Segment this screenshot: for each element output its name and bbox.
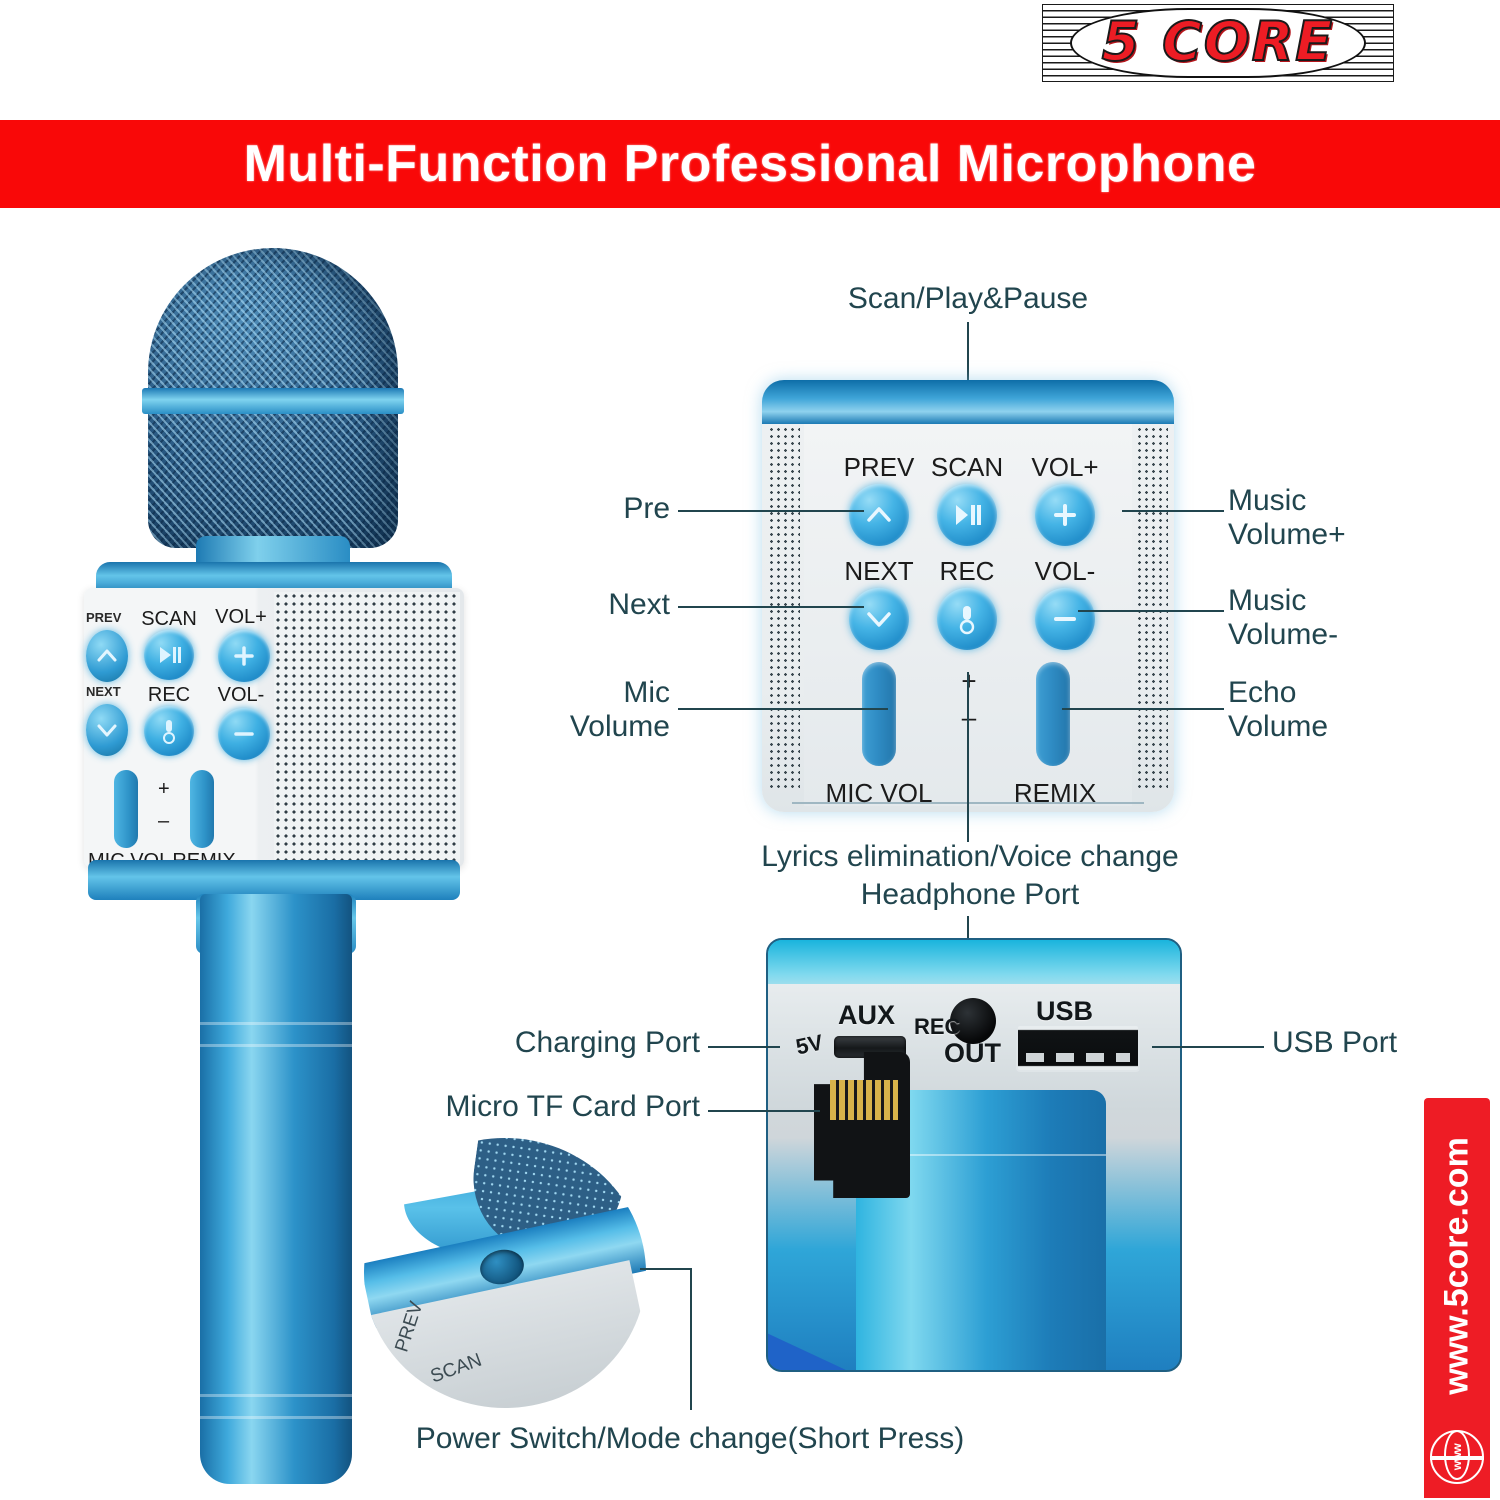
panel-next-button[interactable] — [849, 588, 909, 650]
panel-mic-vol-label: MIC VOL — [818, 778, 940, 809]
callout-music-volume-down: Music Volume- — [1228, 584, 1428, 651]
panel-vol-down-button[interactable] — [1035, 588, 1095, 650]
ports-corner-accent — [768, 1318, 846, 1370]
callout-micro-tf-card-port: Micro TF Card Port — [440, 1090, 700, 1124]
photo-prev-label: PREV — [86, 610, 121, 625]
panel-top-bezel — [762, 380, 1174, 424]
panel-vol-down-label: VOL- — [1010, 556, 1120, 587]
callout-scan-play-pause: Scan/Play&Pause — [808, 282, 1128, 316]
ports-panel-photo: 5V AUX REC OUT USB — [766, 938, 1182, 1372]
panel-mic-vol-slider[interactable] — [862, 662, 896, 766]
power-switch-inset: PREV SCAN — [364, 1138, 646, 1408]
photo-next-label: NEXT — [86, 684, 121, 699]
callout-line-mic-volume — [678, 708, 888, 710]
callout-echo-volume: Echo Volume — [1228, 676, 1428, 743]
callout-line-charging-port — [708, 1046, 780, 1048]
usb-port — [1016, 1024, 1140, 1072]
panel-vol-up-label: VOL+ — [1010, 452, 1120, 483]
brand-logo: 5 CORE — [1042, 4, 1394, 82]
callout-lyrics-elimination: Lyrics elimination/Voice change — [760, 840, 1180, 874]
callout-charging-port: Charging Port — [500, 1026, 700, 1060]
callout-line-next — [678, 606, 864, 608]
photo-mic-vol-slider — [114, 770, 138, 848]
port-label-aux: AUX — [838, 1000, 895, 1031]
panel-vol-up-button[interactable] — [1035, 484, 1095, 546]
photo-vol-up-label: VOL+ — [196, 606, 286, 629]
website-side-tab: www.5core.com www — [1424, 1098, 1490, 1498]
header-banner: Multi-Function Professional Microphone — [0, 120, 1500, 208]
callout-line-usb-port — [1152, 1046, 1264, 1048]
callout-line-power-switch-h — [640, 1268, 692, 1270]
globe-www-label: www — [1450, 1444, 1464, 1471]
panel-scan-label: SCAN — [912, 452, 1022, 483]
handle-ring — [200, 1044, 352, 1047]
panel-rec-button[interactable] — [937, 588, 997, 650]
callout-line-music-volume-down — [1078, 610, 1224, 612]
photo-vol-down-label: VOL- — [196, 684, 286, 707]
callout-line-lyrics — [967, 672, 969, 842]
callout-music-volume-up: Music Volume+ — [1228, 484, 1428, 551]
logo-text: 5 CORE — [1102, 10, 1334, 73]
photo-remix-slider — [190, 770, 214, 848]
callout-headphone-port: Headphone Port — [760, 878, 1180, 912]
panel-prev-button[interactable] — [849, 484, 909, 546]
website-url: www.5core.com — [1438, 1137, 1477, 1395]
handle-ring — [200, 1416, 352, 1419]
photo-scan-button — [144, 630, 194, 680]
photo-slider-minus: – — [158, 810, 169, 833]
callout-line-tf-card-port — [708, 1110, 820, 1112]
banner-title: Multi-Function Professional Microphone — [0, 120, 1500, 208]
callout-mic-volume: Mic Volume — [530, 676, 670, 743]
callout-next: Next — [540, 588, 670, 622]
photo-rec-button — [144, 706, 194, 756]
microphone-handle — [200, 894, 352, 1484]
speaker-body: PREV NEXT SCAN REC VOL+ VOL- + — [84, 588, 464, 868]
panel-grille-right — [1136, 426, 1168, 790]
port-label-rec: REC — [914, 1014, 960, 1040]
panel-rec-label: REC — [912, 556, 1022, 587]
port-label-out: OUT — [944, 1038, 1001, 1069]
port-label-usb: USB — [1036, 996, 1093, 1027]
callout-usb-port: USB Port — [1272, 1026, 1472, 1060]
speaker-grille — [274, 592, 460, 864]
handle-ring — [200, 1394, 352, 1397]
handle-ring — [200, 1022, 352, 1025]
callout-line-power-switch-v — [690, 1268, 692, 1410]
callout-pre: Pre — [560, 492, 670, 526]
tf-card-pins — [830, 1080, 898, 1120]
infographic-canvas: 5 CORE Multi-Function Professional Micro… — [0, 0, 1500, 1500]
panel-scan-button[interactable] — [937, 484, 997, 546]
panel-slider-plus: + — [954, 666, 984, 697]
callout-power-switch: Power Switch/Mode change(Short Press) — [392, 1422, 988, 1456]
photo-vol-down-button — [218, 708, 270, 760]
photo-next-button — [86, 704, 128, 756]
port-label-5v: 5V — [794, 1029, 826, 1060]
panel-grille-left — [768, 426, 800, 790]
mesh-head-band — [142, 388, 404, 414]
photo-prev-button — [86, 630, 128, 682]
globe-icon: www — [1430, 1430, 1484, 1484]
callout-line-pre — [678, 510, 864, 512]
panel-remix-label: REMIX — [994, 778, 1116, 809]
panel-remix-slider[interactable] — [1036, 662, 1070, 766]
callout-line-music-volume-up — [1122, 510, 1224, 512]
callout-line-echo-volume — [1062, 708, 1224, 710]
photo-vol-up-button — [218, 630, 270, 682]
panel-slider-minus: – — [954, 702, 984, 733]
photo-slider-plus: + — [158, 778, 170, 801]
